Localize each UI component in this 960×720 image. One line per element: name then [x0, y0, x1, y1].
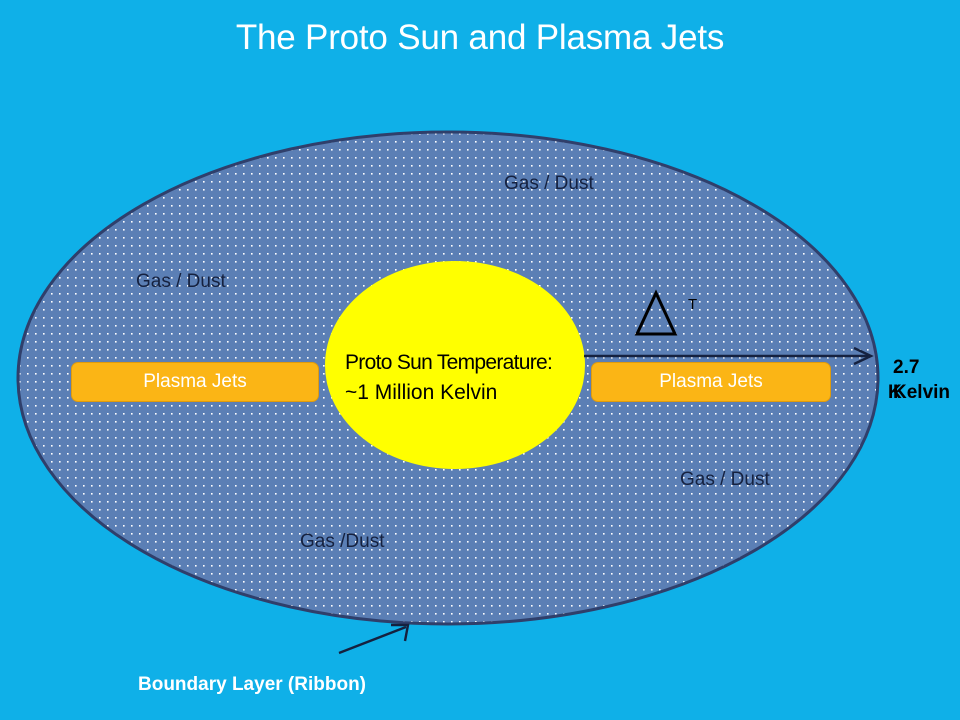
boundary-arrow-svg [336, 622, 412, 656]
delta-temperature-label: T [688, 296, 697, 314]
gas-dust-label-right: Gas / Dust [680, 468, 770, 492]
gas-dust-label-left: Gas / Dust [136, 270, 226, 294]
gradient-arrow-svg [580, 344, 876, 368]
end-temperature-value: 2.7 [893, 355, 950, 380]
stray-kelvin-glyph: K [888, 380, 902, 405]
boundary-layer-arrow [336, 622, 412, 656]
delta-temperature-annotation: T [634, 290, 716, 338]
proto-sun-temperature-line1: Proto Sun Temperature: [345, 348, 595, 378]
temperature-gradient-arrow [580, 344, 876, 368]
page-title: The Proto Sun and Plasma Jets [0, 16, 960, 60]
proto-sun-temperature-text: Proto Sun Temperature: ~1 Million Kelvin [345, 348, 595, 408]
gas-dust-label-bottom: Gas /Dust [300, 530, 384, 554]
plasma-jets-box-right[interactable]: Plasma Jets [591, 362, 831, 402]
slide-canvas: The Proto Sun and Plasma Jets Gas / Dust… [0, 0, 960, 720]
gas-dust-label-top: Gas / Dust [504, 172, 594, 196]
boundary-layer-label: Boundary Layer (Ribbon) [138, 673, 366, 697]
delta-triangle-icon [634, 290, 680, 338]
proto-sun-temperature-line2: ~1 Million Kelvin [345, 378, 595, 408]
plasma-jets-box-left[interactable]: Plasma Jets [71, 362, 319, 402]
